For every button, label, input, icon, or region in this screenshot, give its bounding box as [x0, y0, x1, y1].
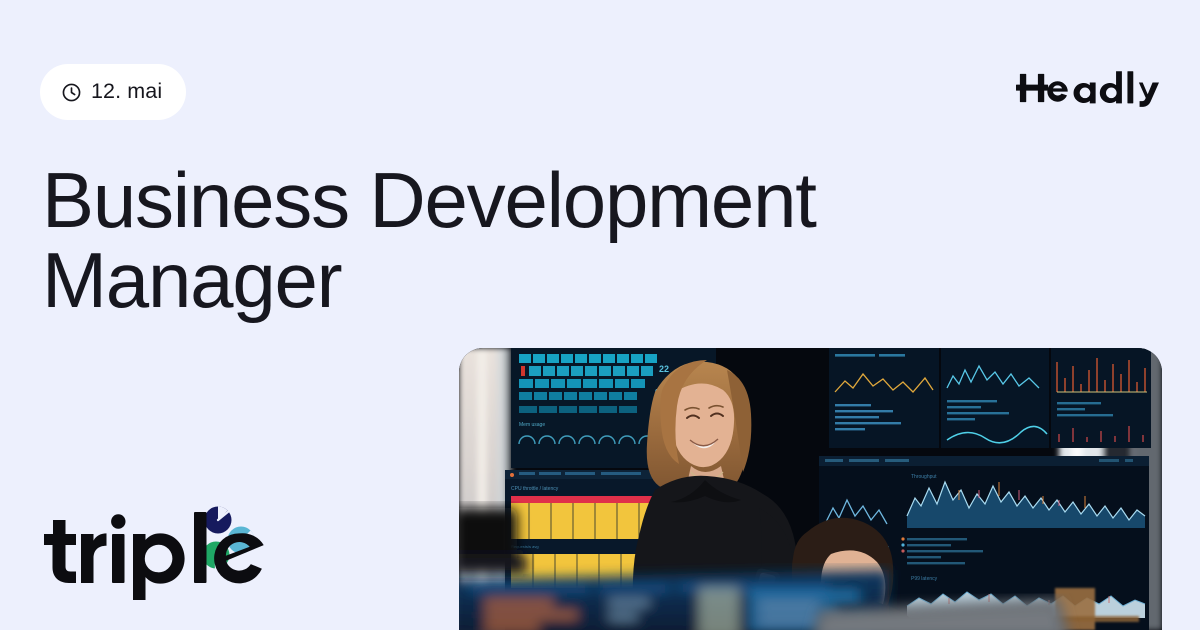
page-title: Business Development Manager: [42, 160, 942, 321]
svg-text:CPU throttle / latency: CPU throttle / latency: [511, 486, 559, 492]
svg-text:Mem usage: Mem usage: [519, 422, 545, 428]
tripletex-logo[interactable]: [40, 500, 302, 600]
svg-text:Throughput: Throughput: [911, 474, 937, 480]
clock-icon: [61, 82, 82, 103]
svg-text:P99 latency: P99 latency: [911, 576, 938, 582]
headly-logo[interactable]: [1016, 66, 1162, 110]
svg-text:22: 22: [659, 364, 669, 374]
date-label: 12. mai: [91, 81, 162, 104]
social-share-card: 12. mai Business Development Ma: [0, 0, 1200, 630]
tripletex-wordmark: [44, 512, 264, 600]
navy-pie-dot: [205, 507, 232, 534]
hero-photo: Mem usage 22 6ms CPU thro: [459, 348, 1162, 630]
date-badge: 12. mai: [40, 64, 186, 120]
